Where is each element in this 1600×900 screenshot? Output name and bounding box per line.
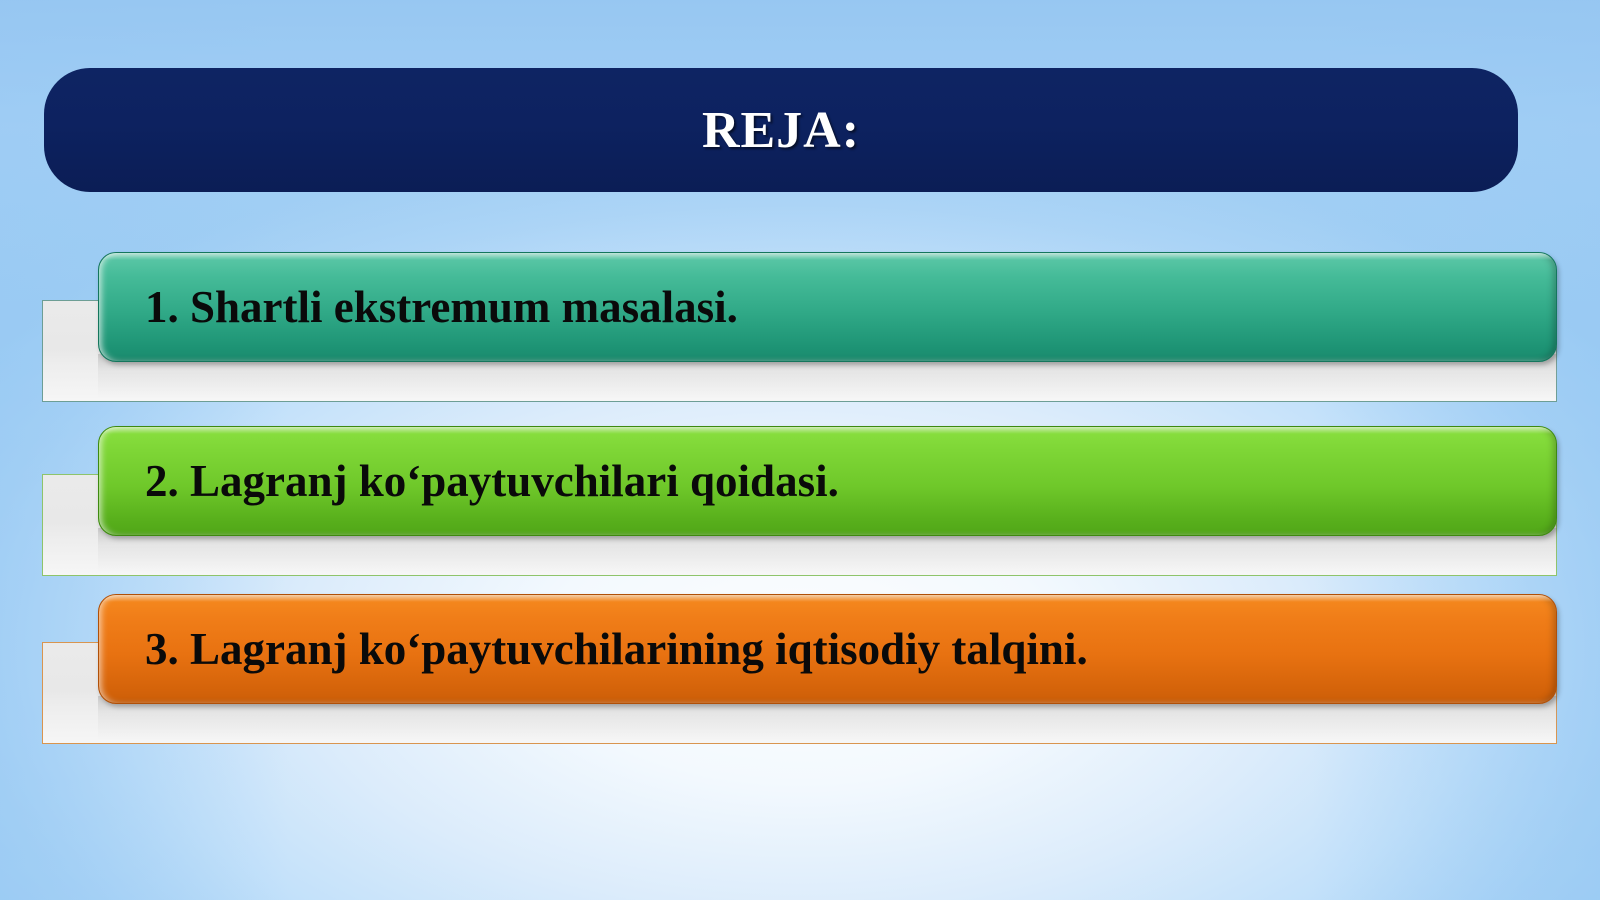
- slide-title-banner: REJA:: [44, 68, 1518, 192]
- plan-item-1-bar[interactable]: 1. Shartli ekstremum masalasi.: [98, 252, 1557, 362]
- slide-title-text: REJA:: [702, 101, 860, 160]
- presentation-slide: REJA: 1. Shartli ekstremum masalasi. 2. …: [0, 0, 1600, 900]
- plan-item-2-label: 2. Lagranj ko‘paytuvchilari qoidasi.: [99, 455, 839, 507]
- plan-item-3-label: 3. Lagranj ko‘paytuvchilarining iqtisodi…: [99, 623, 1088, 675]
- plan-item-1-label: 1. Shartli ekstremum masalasi.: [99, 281, 738, 333]
- plan-item-3-bar[interactable]: 3. Lagranj ko‘paytuvchilarining iqtisodi…: [98, 594, 1557, 704]
- plan-item-2-bar[interactable]: 2. Lagranj ko‘paytuvchilari qoidasi.: [98, 426, 1557, 536]
